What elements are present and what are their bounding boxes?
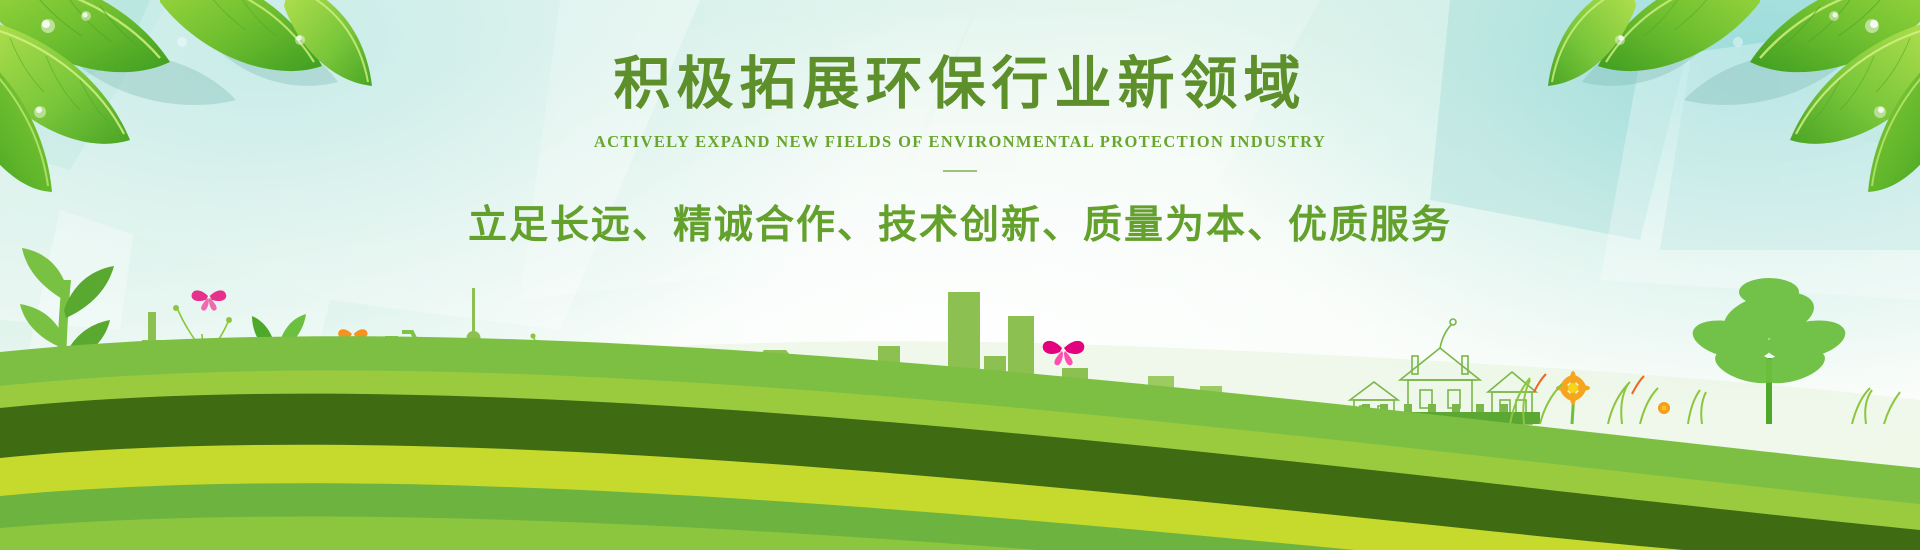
sprout-icon (400, 388, 444, 418)
wave-bands (0, 290, 1920, 550)
page-tagline: 立足长远、精诚合作、技术创新、质量为本、优质服务 (0, 194, 1920, 250)
sunflower-icon (1556, 371, 1590, 424)
flower-icon (812, 394, 824, 406)
eco-banner: 积极拓展环保行业新领域 ACTIVELY EXPAND NEW FIELDS O… (0, 0, 1920, 550)
grass-icon (1510, 378, 1658, 424)
butterfly-orange-icon (338, 329, 367, 346)
grass-icon (1688, 388, 1900, 424)
branch-plant-icon (171, 305, 232, 420)
title-divider (943, 170, 977, 172)
city-skyline-icon (492, 380, 736, 424)
flower-icon (183, 359, 197, 373)
city-skyline-icon (756, 292, 1110, 424)
grass-accent-icon (1534, 374, 1644, 394)
butterfly-pink-icon (192, 290, 227, 310)
bicycle-icon (334, 332, 459, 411)
oriental-pearl-tower-icon (455, 288, 493, 426)
sprout-icon (823, 394, 966, 424)
headline-block: 积极拓展环保行业新领域 ACTIVELY EXPAND NEW FIELDS O… (0, 52, 1920, 250)
villa-base-icon (1350, 404, 1540, 424)
flower-icon (684, 376, 696, 388)
tree-icon (1689, 278, 1849, 424)
page-title: 积极拓展环保行业新领域 (0, 52, 1920, 116)
sprout-icon (20, 248, 114, 420)
city-skyline-icon (1124, 376, 1242, 424)
sprout-icon (252, 314, 306, 392)
page-subtitle: ACTIVELY EXPAND NEW FIELDS OF ENVIRONMEN… (0, 132, 1920, 152)
city-skyline-icon (120, 312, 292, 424)
villa-line-art-icon (1350, 319, 1536, 424)
butterfly-magenta-icon (1043, 341, 1085, 365)
grass-icon (78, 356, 172, 420)
flower-icon (1658, 402, 1670, 414)
branch-plant-icon (530, 333, 614, 424)
